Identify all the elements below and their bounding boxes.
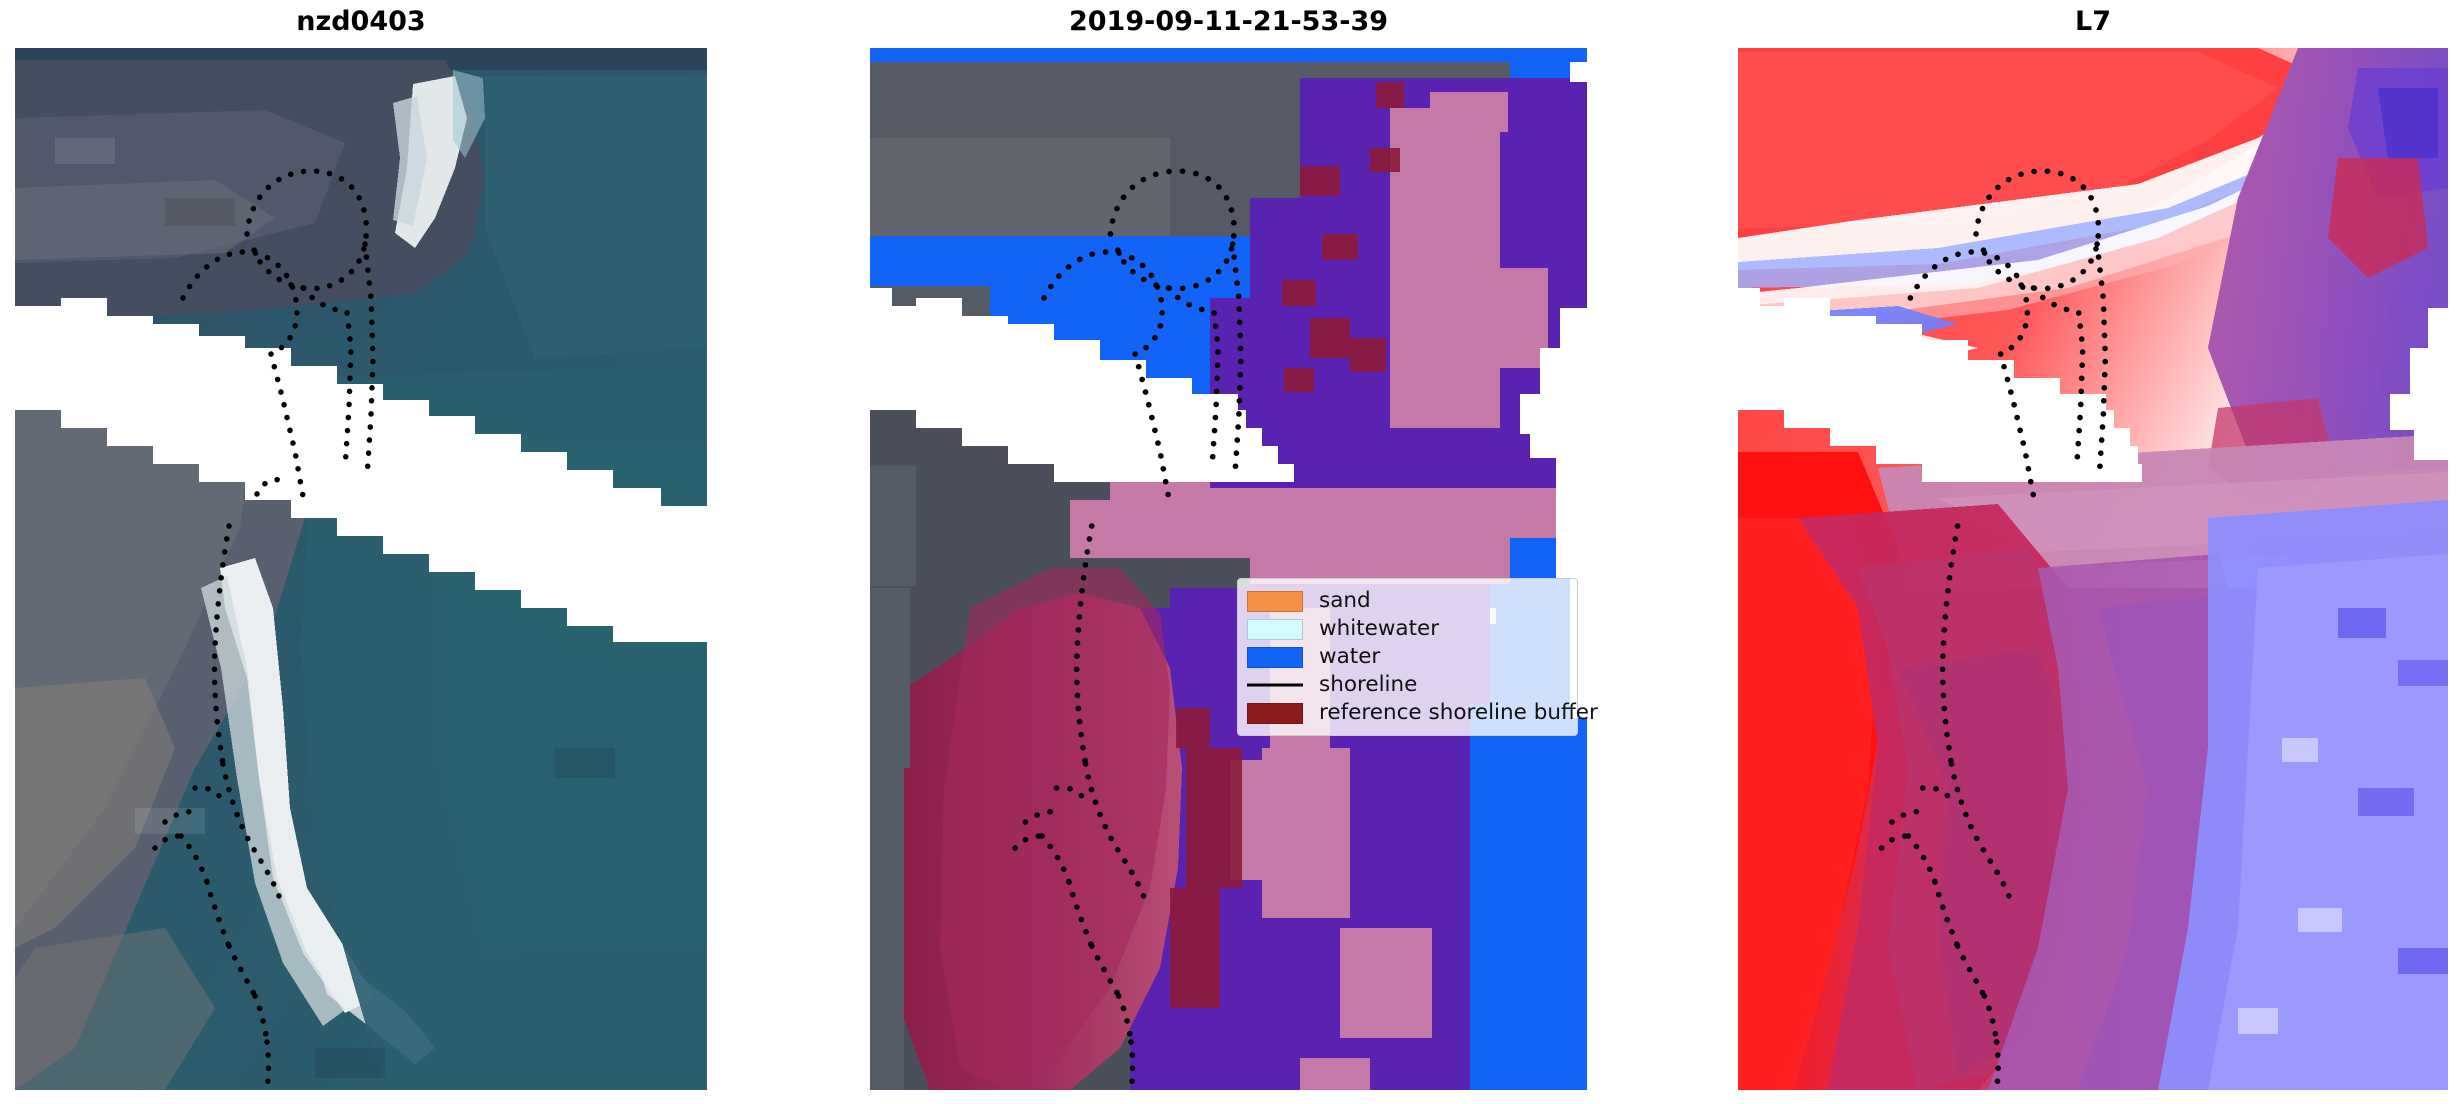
legend-label-shoreline: shoreline — [1319, 674, 1417, 696]
legend-item-sand: sand — [1247, 588, 1567, 614]
index-image — [1738, 48, 2448, 1090]
figure-canvas: nzd0403 — [0, 0, 2460, 1104]
legend-label-whitewater: whitewater — [1319, 618, 1439, 640]
legend-item-water: water — [1247, 644, 1567, 670]
legend-label-water: water — [1319, 646, 1380, 668]
panel-title-rgb: nzd0403 — [15, 6, 707, 37]
legend-item-whitewater: whitewater — [1247, 616, 1567, 642]
panel-classification[interactable] — [870, 48, 1587, 1090]
legend-label-reference-shoreline-buffer: reference shoreline buffer — [1319, 702, 1598, 724]
sand-swatch — [1247, 591, 1303, 612]
legend: sand whitewater water shoreline referenc… — [1237, 578, 1578, 736]
legend-item-shoreline: shoreline — [1247, 672, 1567, 698]
classification-image — [870, 48, 1587, 1090]
legend-label-sand: sand — [1319, 590, 1371, 612]
legend-item-reference-shoreline-buffer: reference shoreline buffer — [1247, 700, 1567, 726]
shoreline-line-swatch — [1247, 675, 1303, 696]
whitewater-swatch — [1247, 619, 1303, 640]
panel-rgb[interactable] — [15, 48, 707, 1090]
water-swatch — [1247, 647, 1303, 668]
rgb-image — [15, 48, 707, 1090]
reference-shoreline-buffer-swatch — [1247, 703, 1303, 724]
panel-index[interactable] — [1738, 48, 2448, 1090]
panel-title-index: L7 — [1738, 6, 2448, 37]
panel-title-classification: 2019-09-11-21-53-39 — [870, 6, 1587, 37]
